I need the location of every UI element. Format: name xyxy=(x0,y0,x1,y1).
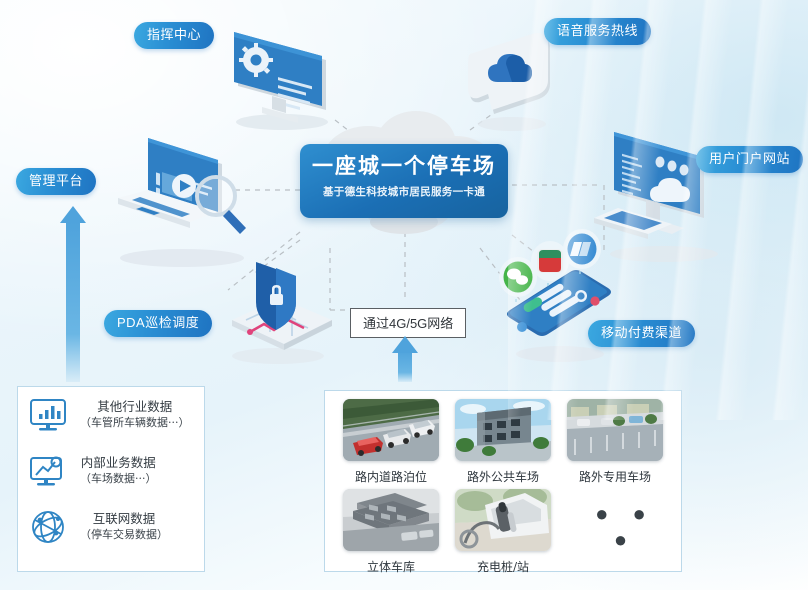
data-source-detail: （停车交易数据） xyxy=(80,528,168,543)
data-row[interactable]: 内部业务数据 （车场数据···） xyxy=(18,443,204,499)
magnifier-icon xyxy=(197,177,246,234)
off-street-public-lot-photo xyxy=(455,399,551,461)
scene-item[interactable]: 路内道路泊位 xyxy=(343,399,439,485)
arrow-up-icon-network xyxy=(398,350,412,382)
management-platform-laptop xyxy=(96,130,276,270)
scene-label: 立体车库 xyxy=(343,558,439,575)
play-icon xyxy=(172,174,196,198)
scene-label: 路内道路泊位 xyxy=(343,468,439,485)
bar-chart-monitor-icon xyxy=(28,397,68,433)
label-command-center[interactable]: 指挥中心 xyxy=(134,22,214,49)
data-source-detail: （车场数据···） xyxy=(80,472,157,487)
parking-scenes-panel: 路内道路泊位 xyxy=(324,390,682,572)
scene-item[interactable]: 路外专用车场 xyxy=(567,399,663,485)
on-street-parking-photo xyxy=(343,399,439,461)
scene-item[interactable]: 充电桩/站 xyxy=(455,489,551,575)
label-voice-hotline[interactable]: 语音服务热线 xyxy=(544,18,651,45)
data-row[interactable]: 其他行业数据 （车管所车辆数据···） xyxy=(18,387,204,443)
multi-level-garage-photo xyxy=(343,489,439,551)
scene-label: 充电桩/站 xyxy=(455,558,551,575)
label-mobile-payment[interactable]: 移动付费渠道 xyxy=(588,320,695,347)
diagram-canvas: 一座城一个停车场 基于德生科技城市居民服务一卡通 xyxy=(0,0,808,590)
data-source-title: 互联网数据 xyxy=(80,511,168,528)
ev-charging-station-photo xyxy=(455,489,551,551)
line-chart-monitor-icon xyxy=(28,453,68,489)
label-pda-dispatch[interactable]: PDA巡检调度 xyxy=(104,310,212,337)
arrow-head-data xyxy=(60,206,86,223)
pda-shield-device xyxy=(212,258,342,368)
payment-app-unionpay xyxy=(562,228,602,270)
title-main: 一座城一个停车场 xyxy=(300,154,508,178)
label-user-portal[interactable]: 用户门户网站 xyxy=(696,146,803,173)
label-management-platform[interactable]: 管理平台 xyxy=(16,168,96,195)
globe-network-icon xyxy=(28,508,68,546)
title-sub: 基于德生科技城市居民服务一卡通 xyxy=(300,184,508,199)
scene-label: 路外专用车场 xyxy=(567,468,663,485)
command-center-monitor xyxy=(214,18,344,133)
data-sources-panel: 其他行业数据 （车管所车辆数据···） 内部业务数据 （车场数据···） xyxy=(17,386,205,572)
data-source-title: 内部业务数据 xyxy=(80,455,157,472)
central-title-banner: 一座城一个停车场 基于德生科技城市居民服务一卡通 xyxy=(300,144,508,218)
scene-item[interactable]: 路外公共车场 xyxy=(455,399,551,485)
scene-item[interactable]: 立体车库 xyxy=(343,489,439,575)
network-note: 通过4G/5G网络 xyxy=(350,308,466,338)
data-source-title: 其他行业数据 xyxy=(80,399,190,416)
arrow-up-icon-data xyxy=(66,222,80,382)
scenes-ellipsis: ● ● ● xyxy=(577,501,673,553)
scene-label: 路外公共车场 xyxy=(455,468,551,485)
arrow-head-network xyxy=(392,336,418,353)
data-row[interactable]: 互联网数据 （停车交易数据） xyxy=(18,499,204,555)
data-source-detail: （车管所车辆数据···） xyxy=(80,416,190,431)
off-street-private-lot-photo xyxy=(567,399,663,461)
